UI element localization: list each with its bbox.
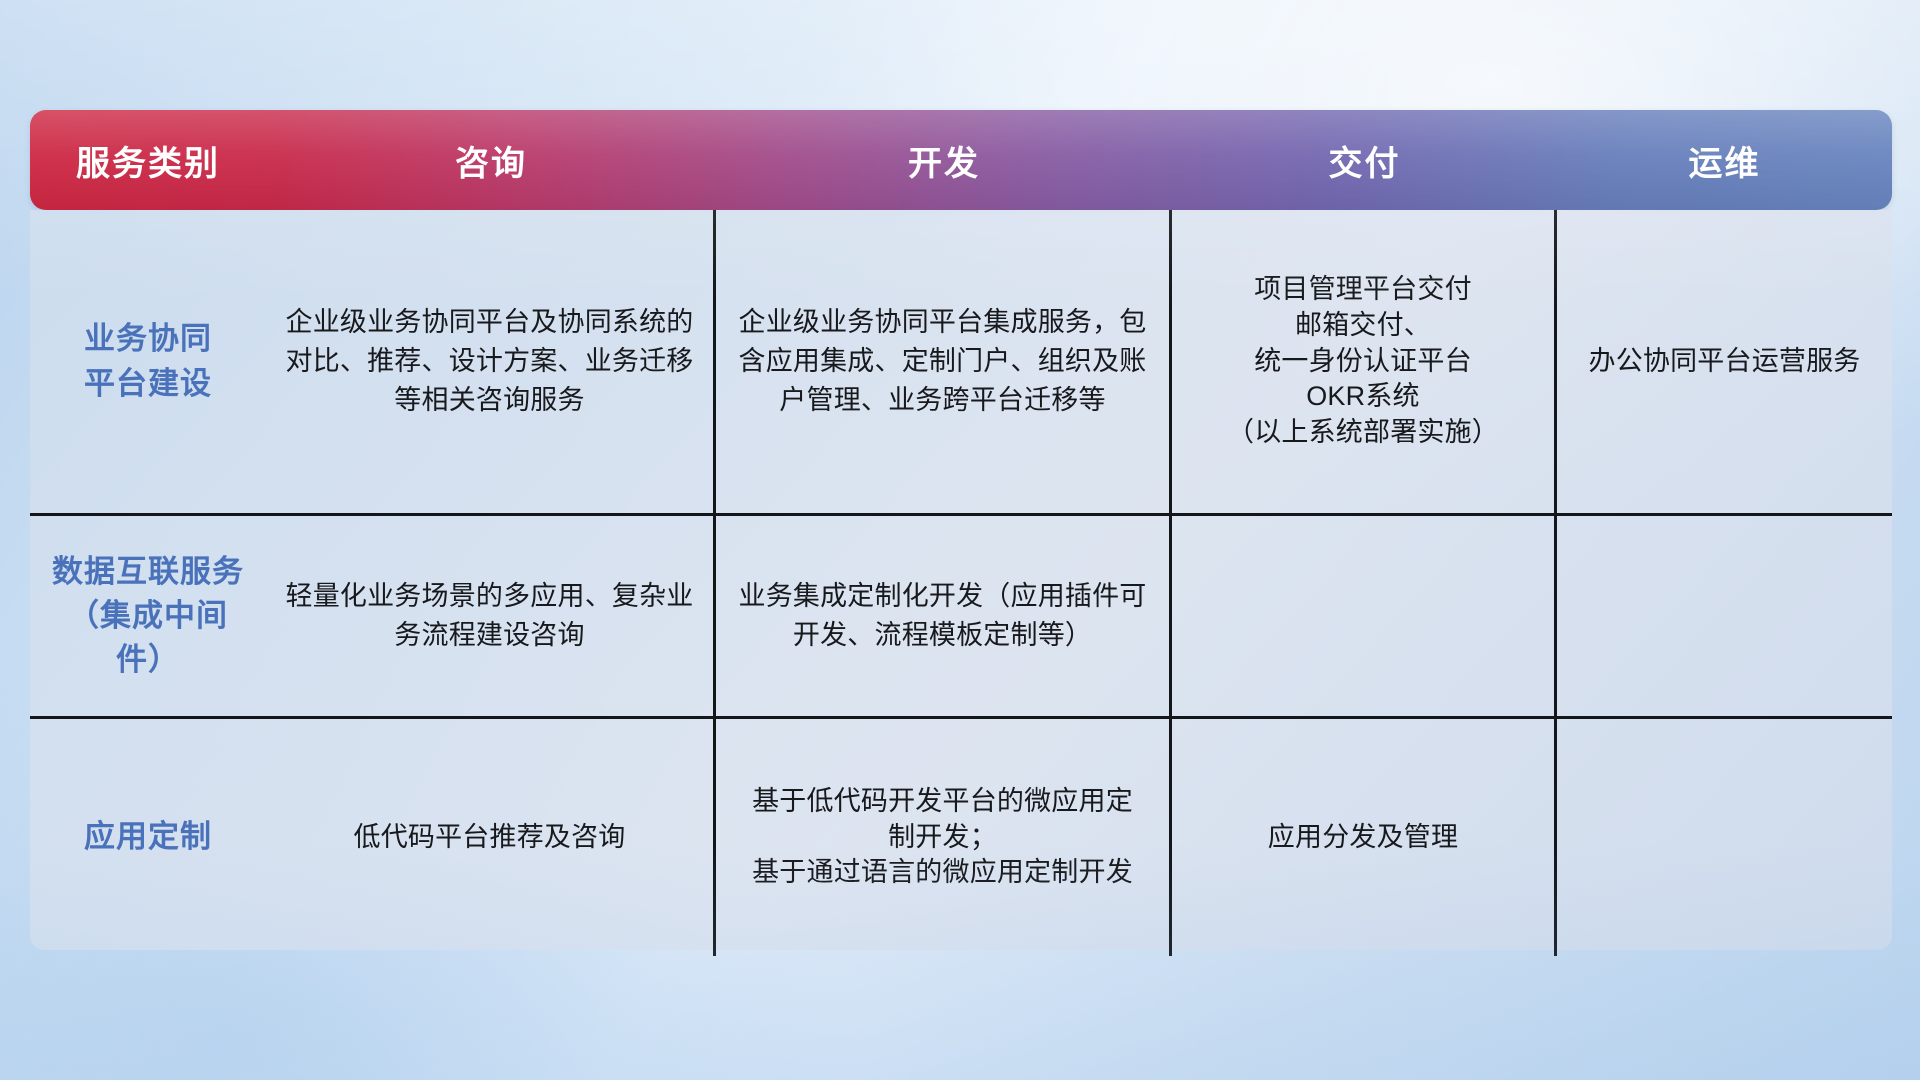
column-header-consulting: 咨询: [266, 136, 716, 185]
row-category-cell: 应用定制: [30, 719, 266, 956]
cell-text-line: OKR系统: [1227, 379, 1499, 415]
column-header-delivery: 交付: [1172, 136, 1557, 185]
cell-text: 轻量化业务场景的多应用、复杂业务流程建设咨询: [280, 577, 699, 655]
cell-development: 企业级业务协同平台集成服务，包含应用集成、定制门户、组织及账户管理、业务跨平台迁…: [716, 210, 1172, 513]
cell-operations: [1557, 516, 1892, 716]
page-root: 服务类别 咨询 开发 交付 运维 业务协同 平台建设 企业级业务协同平台及协同系…: [0, 0, 1920, 1080]
cell-text: 低代码平台推荐及咨询: [354, 818, 626, 857]
row-category-cell: 数据互联服务 （集成中间件）: [30, 516, 266, 716]
cell-development: 基于低代码开发平台的微应用定 制开发； 基于通过语言的微应用定制开发: [716, 719, 1172, 956]
row-category-line: （集成中间件）: [44, 594, 252, 682]
cell-delivery: 项目管理平台交付 邮箱交付、 统一身份认证平台 OKR系统 （以上系统部署实施）: [1172, 210, 1557, 513]
cell-consulting: 轻量化业务场景的多应用、复杂业务流程建设咨询: [266, 516, 716, 716]
cell-text-line: 邮箱交付、: [1227, 308, 1499, 344]
cell-consulting: 企业级业务协同平台及协同系统的对比、推荐、设计方案、业务迁移等相关咨询服务: [266, 210, 716, 513]
cell-text: 企业级业务协同平台及协同系统的对比、推荐、设计方案、业务迁移等相关咨询服务: [280, 303, 699, 420]
cell-text: 办公协同平台运营服务: [1589, 342, 1861, 381]
table-header-row: 服务类别 咨询 开发 交付 运维: [30, 110, 1892, 210]
cell-text-line: 统一身份认证平台: [1227, 344, 1499, 380]
table-row: 业务协同 平台建设 企业级业务协同平台及协同系统的对比、推荐、设计方案、业务迁移…: [30, 210, 1892, 516]
cell-development: 业务集成定制化开发（应用插件可开发、流程模板定制等）: [716, 516, 1172, 716]
cell-text: 业务集成定制化开发（应用插件可开发、流程模板定制等）: [730, 577, 1155, 655]
row-category-cell: 业务协同 平台建设: [30, 210, 266, 513]
row-category-label: 应用定制: [84, 815, 212, 859]
cell-delivery: [1172, 516, 1557, 716]
cell-consulting: 低代码平台推荐及咨询: [266, 719, 716, 956]
table-row: 应用定制 低代码平台推荐及咨询 基于低代码开发平台的微应用定 制开发； 基于通过…: [30, 719, 1892, 956]
cell-operations: 办公协同平台运营服务: [1557, 210, 1892, 513]
row-category-label: 业务协同 平台建设: [84, 317, 212, 405]
row-category-line: 业务协同: [84, 317, 212, 361]
cell-text-line: （以上系统部署实施）: [1227, 415, 1499, 451]
cell-delivery: 应用分发及管理: [1172, 719, 1557, 956]
table-row: 数据互联服务 （集成中间件） 轻量化业务场景的多应用、复杂业务流程建设咨询 业务…: [30, 516, 1892, 719]
cell-text-line: 基于通过语言的微应用定制开发: [752, 855, 1133, 891]
cell-text: 企业级业务协同平台集成服务，包含应用集成、定制门户、组织及账户管理、业务跨平台迁…: [730, 303, 1155, 420]
cell-operations: [1557, 719, 1892, 956]
service-category-table: 服务类别 咨询 开发 交付 运维 业务协同 平台建设 企业级业务协同平台及协同系…: [30, 110, 1892, 950]
column-header-operations: 运维: [1557, 136, 1892, 185]
cell-text: 应用分发及管理: [1268, 818, 1458, 857]
row-category-line: 数据互联服务: [44, 550, 252, 594]
row-category-line: 平台建设: [84, 362, 212, 406]
cell-text-line: 项目管理平台交付: [1227, 272, 1499, 308]
column-header-category: 服务类别: [30, 136, 266, 185]
cell-text: 项目管理平台交付 邮箱交付、 统一身份认证平台 OKR系统 （以上系统部署实施）: [1227, 272, 1499, 450]
row-category-label: 数据互联服务 （集成中间件）: [44, 550, 252, 682]
cell-text-line: 基于低代码开发平台的微应用定: [752, 784, 1133, 820]
cell-text: 基于低代码开发平台的微应用定 制开发； 基于通过语言的微应用定制开发: [752, 784, 1133, 891]
table-body: 业务协同 平台建设 企业级业务协同平台及协同系统的对比、推荐、设计方案、业务迁移…: [30, 210, 1892, 950]
row-category-line: 应用定制: [84, 815, 212, 859]
column-header-development: 开发: [716, 136, 1172, 185]
cell-text-line: 制开发；: [752, 820, 1133, 856]
